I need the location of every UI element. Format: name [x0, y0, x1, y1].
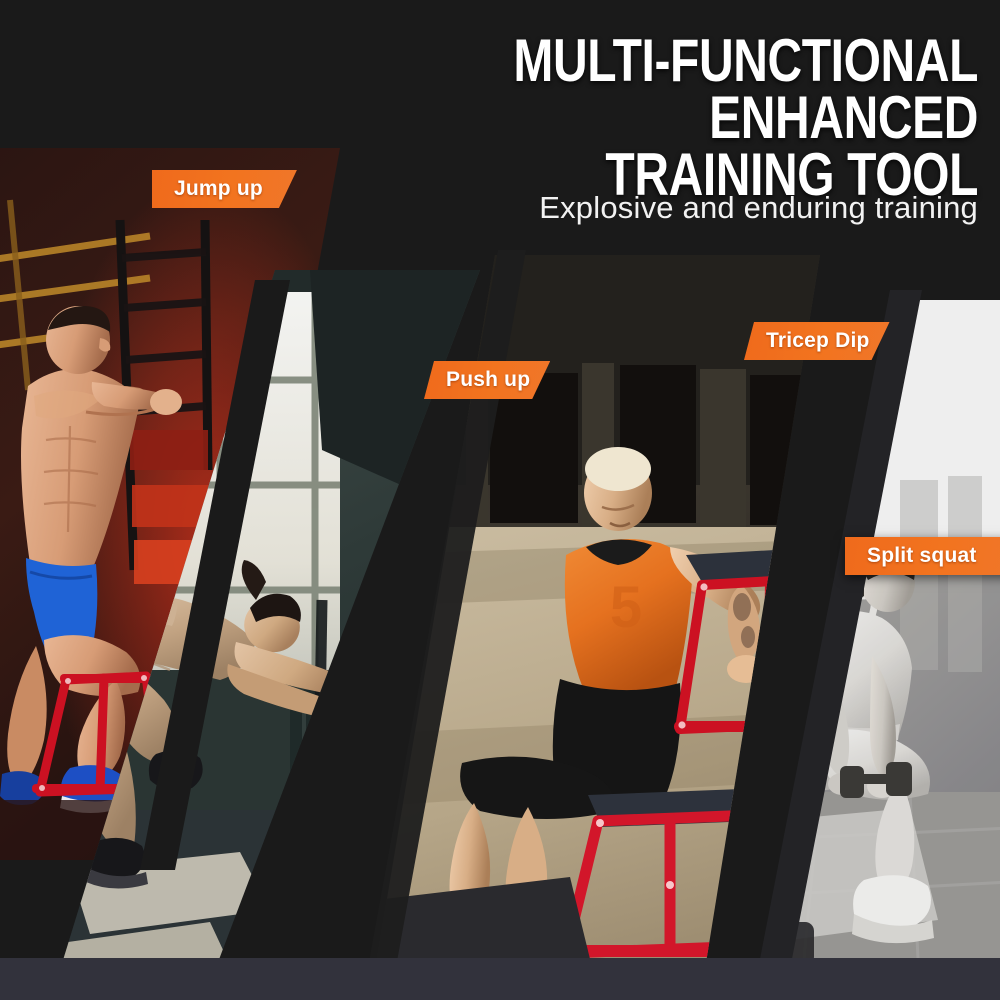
page-title: MULTI-FUNCTIONAL ENHANCED TRAINING TOOL	[322, 32, 978, 203]
footer-strip	[0, 958, 1000, 1000]
svg-text:5: 5	[610, 575, 642, 640]
product-banner: 5	[0, 0, 1000, 1000]
badge-push-up: Push up	[424, 361, 550, 399]
badge-tricep-dip: Tricep Dip	[744, 322, 890, 360]
badge-split-squat: Split squat	[845, 537, 1000, 575]
badge-jump-up: Jump up	[152, 170, 297, 208]
